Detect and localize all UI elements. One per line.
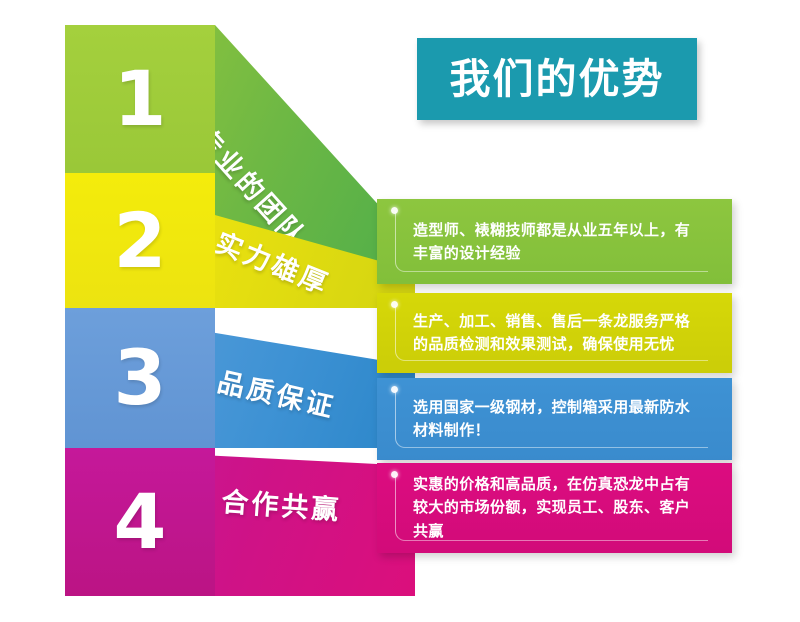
advantage-panel-2: 生产、加工、销售、售后一条龙服务严格的品质检测和效果测试，确保使用无忧 [377, 293, 732, 373]
advantage-label-4: 合作共赢 [220, 480, 342, 527]
advantage-panel-4: 实惠的价格和高品质，在仿真恐龙中占有较大的市场份额，实现员工、股东、客户共赢 [377, 463, 732, 553]
advantage-body-2: 生产、加工、销售、售后一条龙服务严格的品质检测和效果测试，确保使用无忧 [413, 310, 698, 357]
advantage-panel-1: 造型师、裱糊技师都是从业五年以上，有丰富的设计经验 [377, 199, 732, 284]
advantage-number-1: 1 [114, 61, 167, 137]
infographic-canvas: 我们的优势 专业的团队 实力雄厚 品质保证 合作共赢 1 2 3 4 [0, 0, 800, 622]
bullet-dot-icon-2 [391, 301, 398, 308]
cube-front-face-3: 3 [65, 308, 215, 448]
bullet-dot-icon-3 [391, 386, 398, 393]
advantage-body-1: 造型师、裱糊技师都是从业五年以上，有丰富的设计经验 [413, 218, 698, 265]
advantage-body-4: 实惠的价格和高品质，在仿真恐龙中占有较大的市场份额，实现员工、股东、客户共赢 [413, 473, 698, 543]
page-title: 我们的优势 [450, 59, 665, 100]
cube-front-face-1: 1 [65, 25, 215, 173]
cube-front-face-2: 2 [65, 173, 215, 308]
advantage-number-2: 2 [114, 203, 167, 279]
advantage-number-cube-4: 4 [65, 448, 215, 596]
advantage-number-cube-3: 3 [65, 308, 215, 448]
advantage-number-3: 3 [114, 340, 167, 416]
bullet-dot-icon-1 [391, 207, 398, 214]
page-title-badge: 我们的优势 [417, 38, 697, 120]
bullet-dot-icon-4 [391, 471, 398, 478]
advantage-panel-3: 选用国家一级钢材，控制箱采用最新防水材料制作！ [377, 378, 732, 460]
advantage-body-3: 选用国家一级钢材，控制箱采用最新防水材料制作！ [413, 396, 698, 443]
advantage-number-4: 4 [114, 484, 167, 560]
advantage-number-cube-2: 2 [65, 173, 215, 308]
advantage-number-cube-1: 1 [65, 25, 215, 173]
cube-front-face-4: 4 [65, 448, 215, 596]
